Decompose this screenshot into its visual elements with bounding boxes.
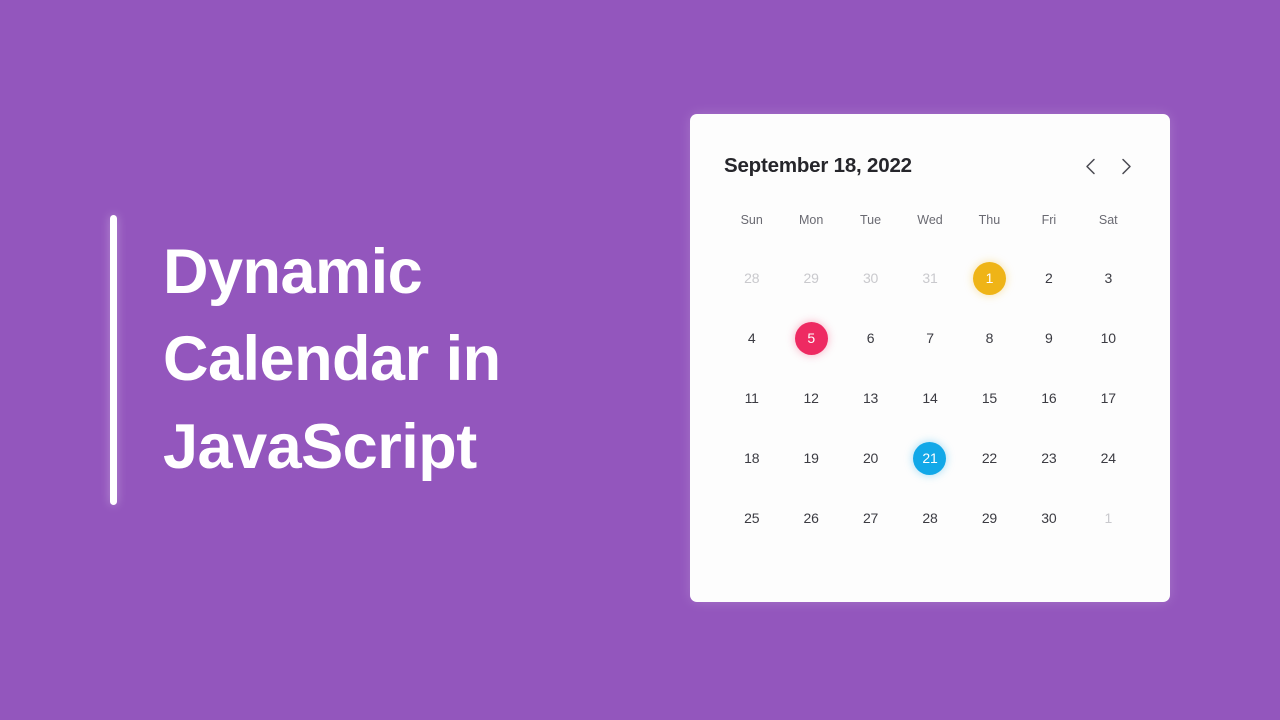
date-label: 1 [1092,502,1125,535]
weekday-label-sun: Sun [722,213,781,227]
date-cell[interactable]: 10 [1079,308,1138,368]
date-cell[interactable]: 30 [841,248,900,308]
date-label: 17 [1092,382,1125,415]
page-title: Dynamic Calendar in JavaScript [163,229,501,492]
date-cell[interactable]: 16 [1019,368,1078,428]
date-label: 29 [795,262,828,295]
date-cell[interactable]: 29 [781,248,840,308]
date-label: 3 [1092,262,1125,295]
date-label: 18 [735,442,768,475]
weekday-label-fri: Fri [1019,213,1078,227]
date-label: 16 [1032,382,1065,415]
date-cell[interactable]: 21 [900,428,959,488]
date-cell[interactable]: 31 [900,248,959,308]
weekday-label-tue: Tue [841,213,900,227]
calendar-widget: September 18, 2022 SunMonTueWedThuFriSat… [690,114,1170,602]
date-cell[interactable]: 19 [781,428,840,488]
date-label: 10 [1092,322,1125,355]
weekday-label-thu: Thu [960,213,1019,227]
date-cell[interactable]: 20 [841,428,900,488]
accent-bar [110,215,117,505]
date-cell[interactable]: 5 [781,308,840,368]
calendar-current-date: September 18, 2022 [724,154,912,178]
date-cell[interactable]: 25 [722,488,781,548]
date-label: 21 [913,442,946,475]
previous-month-button[interactable] [1080,154,1100,178]
date-cell[interactable]: 27 [841,488,900,548]
date-cell[interactable]: 26 [781,488,840,548]
date-cell[interactable]: 13 [841,368,900,428]
date-cell[interactable]: 23 [1019,428,1078,488]
date-cell[interactable]: 17 [1079,368,1138,428]
weekday-label-wed: Wed [900,213,959,227]
date-label: 8 [973,322,1006,355]
date-cell[interactable]: 2 [1019,248,1078,308]
next-month-button[interactable] [1116,154,1136,178]
date-label: 26 [795,502,828,535]
date-label: 15 [973,382,1006,415]
date-label: 30 [854,262,887,295]
date-label: 6 [854,322,887,355]
date-cell[interactable]: 30 [1019,488,1078,548]
date-label: 14 [913,382,946,415]
date-cell[interactable]: 28 [722,248,781,308]
weekday-label-sat: Sat [1079,213,1138,227]
date-cell[interactable]: 11 [722,368,781,428]
date-label: 4 [735,322,768,355]
date-label: 28 [913,502,946,535]
date-label: 11 [735,382,768,415]
date-cell[interactable]: 1 [1079,488,1138,548]
date-label: 25 [735,502,768,535]
date-label: 1 [973,262,1006,295]
date-label: 28 [735,262,768,295]
date-cell[interactable]: 22 [960,428,1019,488]
date-label: 5 [795,322,828,355]
date-cell[interactable]: 12 [781,368,840,428]
date-label: 19 [795,442,828,475]
date-cell[interactable]: 8 [960,308,1019,368]
calendar-header: September 18, 2022 [722,154,1138,178]
date-label: 30 [1032,502,1065,535]
date-label: 23 [1032,442,1065,475]
date-grid: 2829303112345678910111213141516171819202… [722,248,1138,548]
date-cell[interactable]: 7 [900,308,959,368]
date-label: 31 [913,262,946,295]
date-label: 2 [1032,262,1065,295]
date-label: 29 [973,502,1006,535]
date-cell[interactable]: 4 [722,308,781,368]
date-label: 7 [913,322,946,355]
date-label: 27 [854,502,887,535]
date-label: 12 [795,382,828,415]
date-label: 22 [973,442,1006,475]
date-label: 24 [1092,442,1125,475]
date-cell[interactable]: 24 [1079,428,1138,488]
date-label: 13 [854,382,887,415]
date-cell[interactable]: 14 [900,368,959,428]
hero-section: Dynamic Calendar in JavaScript [0,0,660,720]
chevron-left-icon [1085,158,1096,175]
date-cell[interactable]: 1 [960,248,1019,308]
date-cell[interactable]: 18 [722,428,781,488]
weekday-label-mon: Mon [781,213,840,227]
calendar-navigation [1080,154,1136,178]
date-cell[interactable]: 9 [1019,308,1078,368]
hero-content: Dynamic Calendar in JavaScript [110,211,501,509]
date-label: 9 [1032,322,1065,355]
chevron-right-icon [1121,158,1132,175]
date-cell[interactable]: 28 [900,488,959,548]
date-cell[interactable]: 6 [841,308,900,368]
date-label: 20 [854,442,887,475]
date-cell[interactable]: 15 [960,368,1019,428]
date-cell[interactable]: 29 [960,488,1019,548]
weekday-header-row: SunMonTueWedThuFriSat [722,213,1138,227]
date-cell[interactable]: 3 [1079,248,1138,308]
